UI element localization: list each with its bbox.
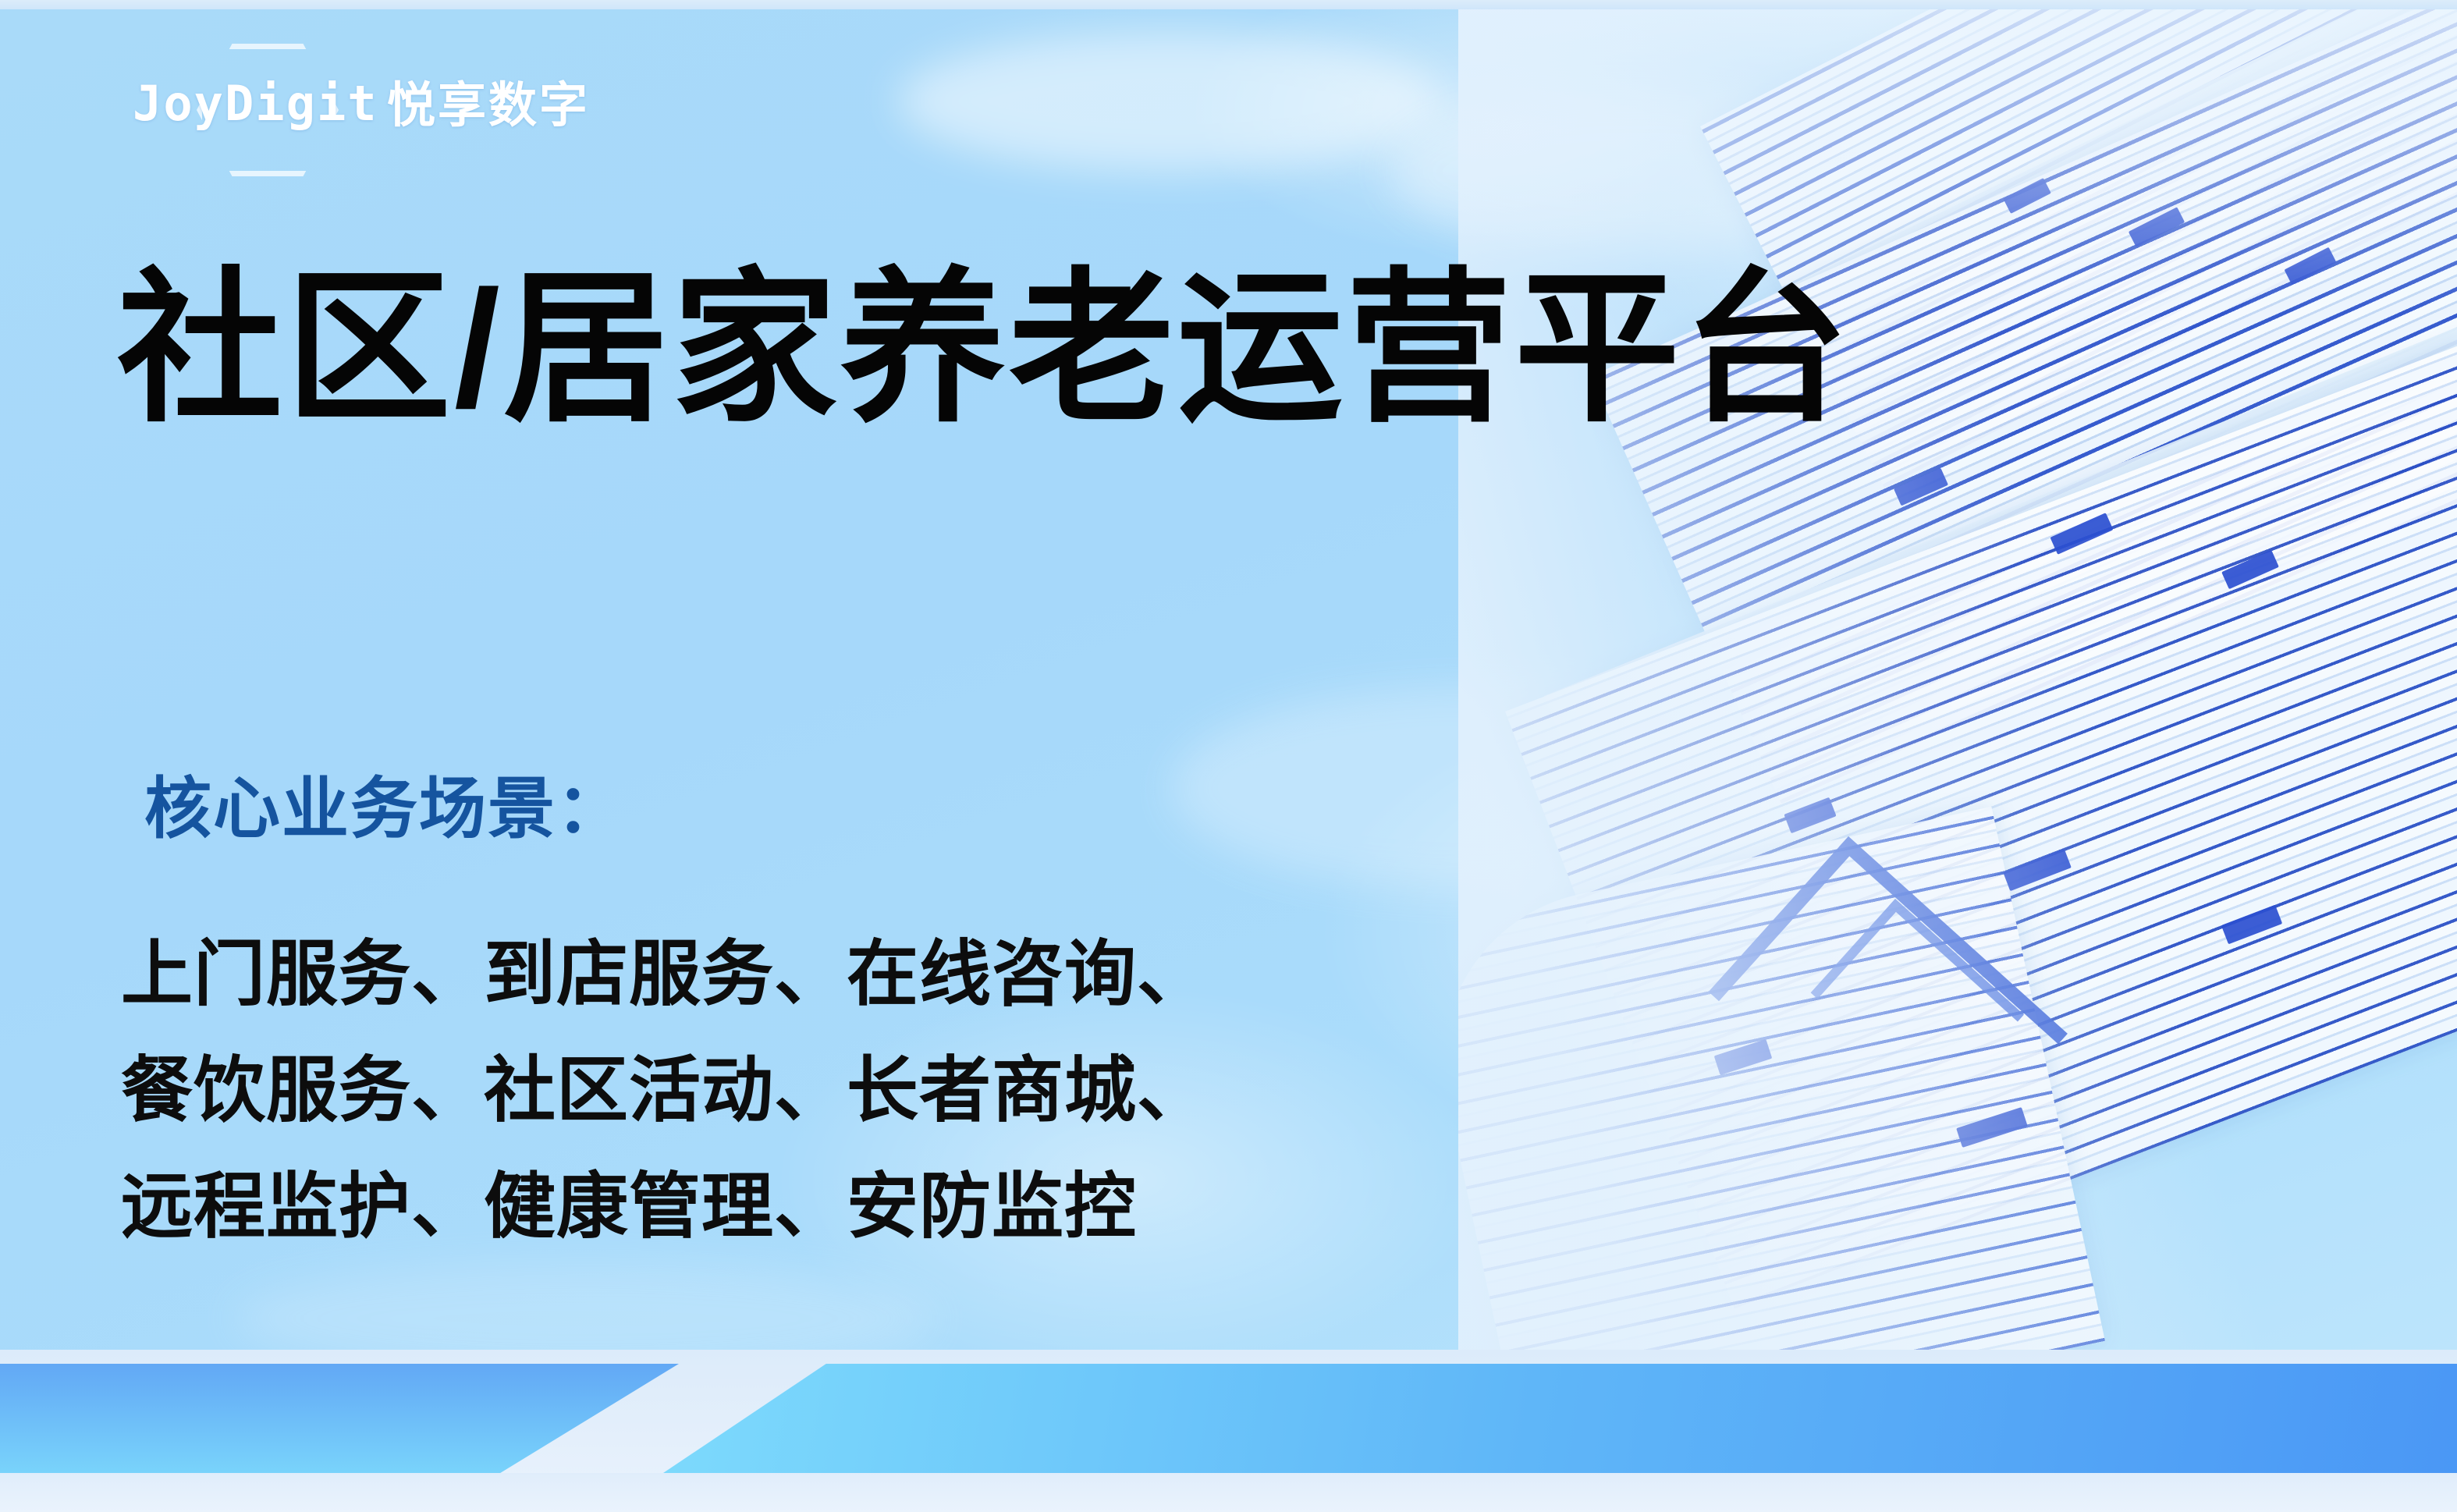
- brand-logo[interactable]: JoyDigit 悦享数字: [133, 64, 590, 148]
- top-edge-strip: [0, 0, 2457, 9]
- banner-shape-right: [663, 1364, 2457, 1473]
- scenario-line: 远程监护、健康管理、安防监控: [121, 1149, 1209, 1265]
- scenario-line: 餐饮服务、社区活动、长者商城、: [121, 1033, 1209, 1149]
- section-heading: 核心业务场景：: [144, 772, 625, 847]
- cloud-shape: [897, 31, 1443, 172]
- tower-curved-block: [1458, 807, 2105, 1395]
- logo-mark: JoyDigit: [133, 64, 367, 148]
- skyscraper-photo: [1458, 9, 2457, 1395]
- banner-shape-left: [0, 1364, 679, 1473]
- logo-chinese-text: 悦享数字: [387, 82, 590, 130]
- logo-latin-text: JoyDigit: [133, 75, 378, 132]
- scenario-line: 上门服务、到店服务、在线咨询、: [121, 917, 1209, 1033]
- scenario-list: 上门服务、到店服务、在线咨询、 餐饮服务、社区活动、长者商城、 远程监护、健康管…: [121, 917, 1209, 1265]
- bottom-banner: [0, 1350, 2457, 1512]
- banner-footer-strip: [0, 1473, 2457, 1512]
- page-title: 社区/居家养老运营平台: [117, 256, 1852, 441]
- slide-root: JoyDigit 悦享数字 社区/居家养老运营平台 核心业务场景： 上门服务、到…: [0, 0, 2457, 1512]
